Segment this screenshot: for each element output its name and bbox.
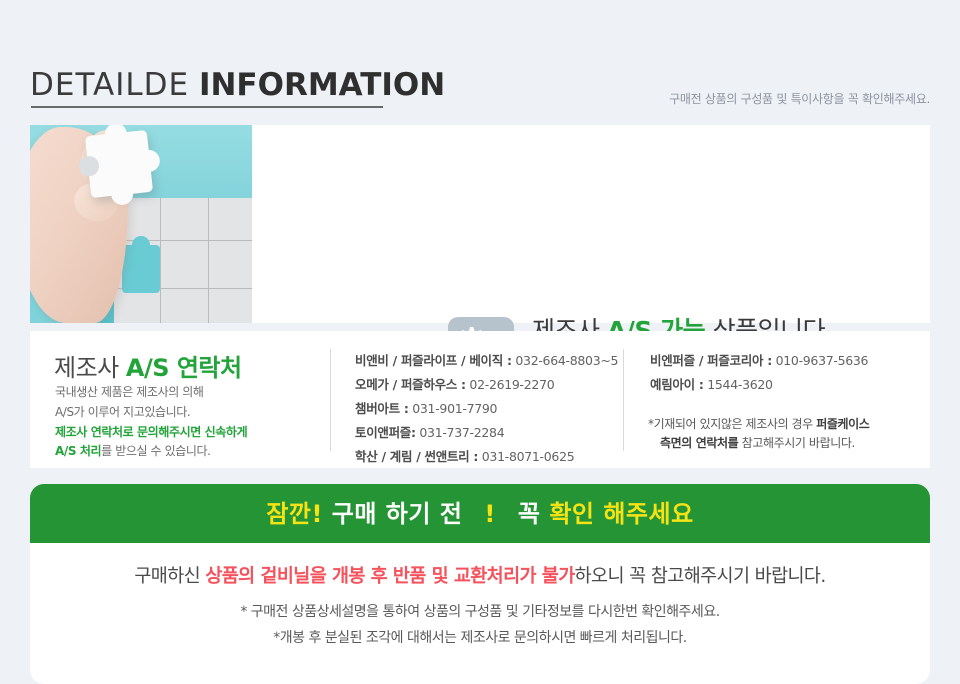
puzzle-grid-line	[160, 198, 161, 323]
photo-missing-piece-gap	[122, 245, 160, 293]
contact-column-1: 비앤비 / 퍼즐라이프 / 베이직 : 032-664-8803~5 오메가 /…	[355, 349, 618, 469]
contact-heading: 제조사 A/S 연락처	[54, 348, 242, 383]
contact-brand: 예림아이 :	[650, 377, 704, 392]
contact-phone: 1544-3620	[707, 377, 772, 392]
banner-exclamation: !	[462, 500, 517, 528]
notice-banner-text: 잠깐! 구매 하기 전!꼭 확인 해주세요	[266, 502, 693, 526]
page-title-light: DETAILDE	[30, 67, 189, 103]
contact-note: 국내생산 제품은 제조사의 의해 A/S가 이루어 지고있습니다. 제조사 연락…	[55, 383, 247, 462]
photo-puzzle-piece	[85, 130, 153, 198]
banner-yellow-2: 확인 해주세요	[549, 500, 693, 528]
warning-highlight: 상품의 겉비닐을 개봉 후 반품 및 교환처리가 불가	[205, 566, 574, 587]
contact-brand: 토이앤퍼즐:	[355, 425, 416, 440]
footnote-post: 참고해주시기 바랍니다.	[738, 436, 855, 450]
contact-phone: 031-8071-0625	[482, 449, 575, 464]
manufacturer-contact-panel: 제조사 A/S 연락처 국내생산 제품은 제조사의 의해 A/S가 이루어 지고…	[30, 331, 930, 468]
title-underline	[31, 106, 383, 108]
contact-row: 토이앤퍼즐: 031-737-2284	[355, 421, 618, 445]
footnote-bold-1: 퍼즐케이스	[816, 417, 869, 431]
page-title-bold: INFORMATION	[199, 67, 445, 103]
page-header: DETAILDE INFORMATION 구매전 상품의 구성품 및 특이사항을…	[0, 0, 960, 125]
contact-phone: 031-901-7790	[412, 401, 497, 416]
contact-row: 학산 / 계림 / 썬앤트리 : 031-8071-0625	[355, 445, 618, 469]
contact-phone: 032-664-8803~5	[515, 353, 618, 368]
contact-heading-pre: 제조사	[54, 354, 126, 382]
footnote-bold-2: 측면의 연락처를	[660, 436, 738, 450]
banner-white-2: 꼭	[518, 500, 541, 528]
contact-footnote: *기재되어 있지않은 제조사의 경우 퍼즐케이스 측면의 연락처를 참고해주시기…	[648, 415, 869, 453]
contact-phone: 02-2619-2270	[469, 377, 554, 392]
banner-white-1: 구매 하기 전	[332, 500, 463, 528]
contact-note-line4: A/S 처리를 받으실 수 있습니다.	[55, 442, 247, 462]
contact-note-line2: A/S가 이루어 지고있습니다.	[55, 403, 247, 423]
contact-heading-accent: A/S 연락처	[126, 354, 242, 382]
contact-row: 오메가 / 퍼즐하우스 : 02-2619-2270	[355, 373, 618, 397]
contact-note-line3: 제조사 연락처로 문의해주시면 신속하게	[55, 423, 247, 443]
notice-green-banner: 잠깐! 구매 하기 전!꼭 확인 해주세요	[30, 484, 930, 543]
contact-footnote-line2: 측면의 연락처를 참고해주시기 바랍니다.	[648, 434, 869, 453]
column-divider-1	[330, 349, 331, 451]
contact-brand: 오메가 / 퍼즐하우스 :	[355, 377, 466, 392]
as-info-panel: 제조사 A/S 가능 상품입니다. 각 브랜드 제조사에서 직접 처리를 해드리…	[30, 125, 930, 323]
contact-note-line1: 국내생산 제품은 제조사의 의해	[55, 383, 247, 403]
contact-footnote-line1: *기재되어 있지않은 제조사의 경우 퍼즐케이스	[648, 415, 869, 434]
contact-row: 비엔퍼즐 / 퍼즐코리아 : 010-9637-5636	[650, 349, 868, 373]
contact-row: 챔버아트 : 031-901-7790	[355, 397, 618, 421]
contact-column-2: 비엔퍼즐 / 퍼즐코리아 : 010-9637-5636 예림아이 : 1544…	[650, 349, 868, 397]
contact-brand: 챔버아트 :	[355, 401, 409, 416]
notice-sub-line-2: *개봉 후 분실된 조각에 대해서는 제조사로 문의하시면 빠르게 처리됩니다.	[30, 627, 930, 647]
page-title: DETAILDE INFORMATION	[30, 70, 445, 101]
column-divider-2	[623, 349, 624, 451]
warning-post: 하오니 꼭 참고해주시기 바랍니다.	[575, 566, 826, 587]
header-subtitle: 구매전 상품의 구성품 및 특이사항을 꼭 확인해주세요.	[669, 90, 930, 107]
notice-sub-line-1: * 구매전 상품상세설명을 통하여 상품의 구성품 및 기타정보를 다시한번 확…	[30, 601, 930, 621]
contact-note-line4-green: A/S 처리	[55, 444, 101, 458]
contact-row: 비앤비 / 퍼즐라이프 / 베이직 : 032-664-8803~5	[355, 349, 618, 373]
contact-note-line4-rest: 를 받으실 수 있습니다.	[101, 444, 210, 458]
contact-phone: 031-737-2284	[419, 425, 504, 440]
puzzle-photo	[30, 125, 252, 323]
warning-pre: 구매하신	[134, 566, 205, 587]
contact-brand: 비엔퍼즐 / 퍼즐코리아 :	[650, 353, 772, 368]
banner-yellow-1: 잠깐!	[266, 500, 323, 528]
contact-row: 예림아이 : 1544-3620	[650, 373, 868, 397]
purchase-notice-card: 잠깐! 구매 하기 전!꼭 확인 해주세요 구매하신 상품의 겉비닐을 개봉 후…	[30, 484, 930, 684]
contact-brand: 비앤비 / 퍼즐라이프 / 베이직 :	[355, 353, 512, 368]
piece-knob-top	[104, 125, 128, 146]
contact-phone: 010-9637-5636	[776, 353, 869, 368]
puzzle-grid-line	[208, 198, 209, 323]
notice-main-warning: 구매하신 상품의 겉비닐을 개봉 후 반품 및 교환처리가 불가하오니 꼭 참고…	[30, 562, 930, 588]
contact-brand: 학산 / 계림 / 썬앤트리 :	[355, 449, 478, 464]
footnote-pre: *기재되어 있지않은 제조사의 경우	[648, 417, 816, 431]
